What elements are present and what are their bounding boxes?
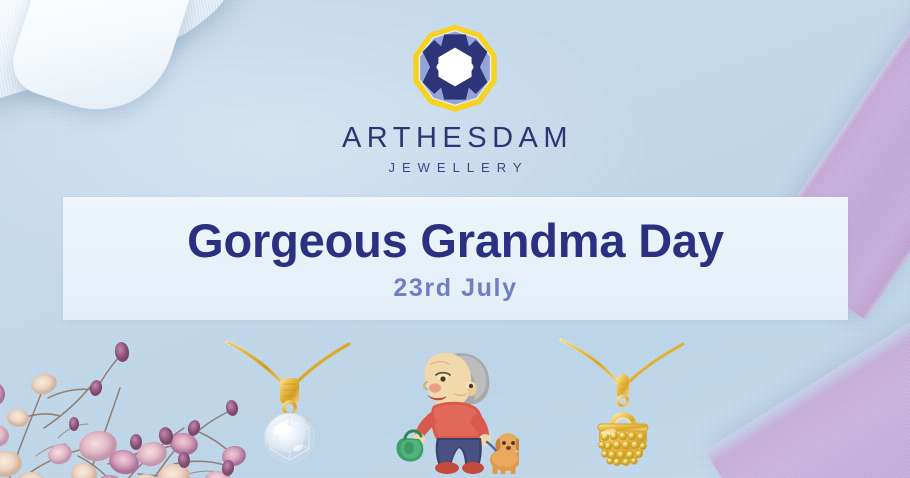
arthesdam-gem-logo-icon [410, 22, 500, 112]
headline-band: Gorgeous Grandma Day 23rd July [63, 197, 848, 320]
event-date: 23rd July [393, 276, 517, 301]
product-showcase-row [0, 338, 910, 478]
brand-name: ARTHESDAM [0, 124, 910, 153]
grandma-walking-dog-illustration[interactable] [391, 338, 519, 474]
gold-handbag-pendant-necklace[interactable] [557, 338, 685, 474]
brand-logo-block: ARTHESDAM JEWELLERY [0, 22, 910, 174]
solitaire-diamond-pendant-necklace[interactable] [225, 338, 353, 474]
brand-subtitle: JEWELLERY [0, 161, 910, 174]
page-title: Gorgeous Grandma Day [187, 217, 724, 264]
grandma-with-dog-icon [391, 338, 519, 474]
solitaire-pendant-icon [225, 338, 353, 474]
promo-banner: ARTHESDAM JEWELLERY Gorgeous Grandma Day… [0, 0, 910, 478]
handbag-pendant-icon [557, 338, 685, 474]
